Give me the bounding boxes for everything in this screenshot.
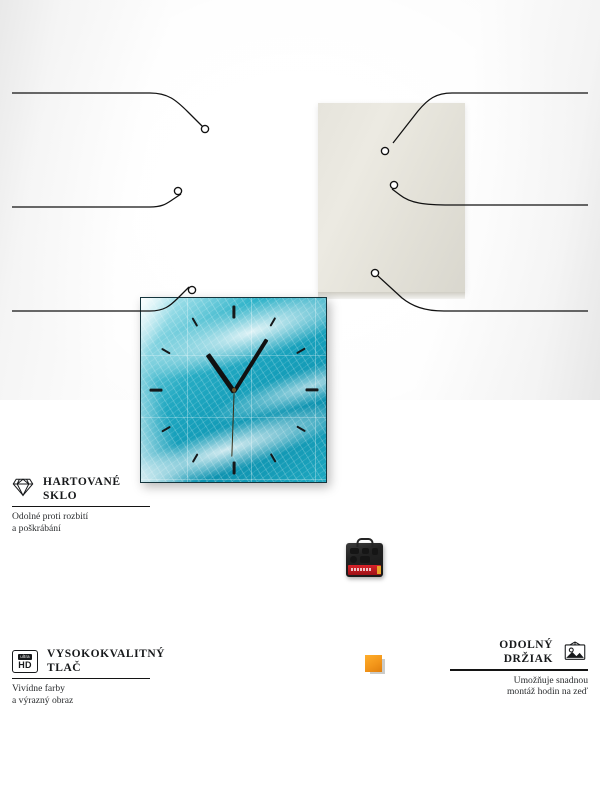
feature-sub-line2: a poškrábání (12, 523, 152, 535)
connector-mechanism (392, 189, 588, 205)
clock-movement-part (346, 543, 383, 577)
hotspot-edges[interactable] (188, 286, 195, 293)
feature-sub-line2: a výrazný obraz (12, 695, 152, 707)
ultra-hd-badge-top: ultra (18, 654, 32, 659)
movement-button-a (350, 548, 359, 554)
connector-edges (12, 287, 189, 311)
feature-title-line2: TLAČ (47, 662, 165, 676)
hotspot-foam[interactable] (371, 269, 378, 276)
hanger-hook-icon (356, 538, 373, 547)
connector-foam (378, 276, 588, 311)
foam-spacer-pad-part (365, 655, 382, 672)
feature-title-line1: VYSOKOKVALITNÝ (47, 648, 165, 662)
clock-tick (232, 462, 235, 475)
battery-terminal (377, 566, 381, 574)
movement-button-c (372, 548, 378, 555)
divider (450, 669, 588, 670)
diamond-icon (12, 477, 34, 502)
feature-title-line1: HARTOVANÉ (43, 476, 121, 490)
battery-label (351, 568, 371, 571)
infographic-canvas: HARTOVANÉ SKLO Odolné proti rozbití a po… (0, 0, 600, 400)
hotspot-hardened-glass[interactable] (201, 125, 208, 132)
hotspot-mechanism[interactable] (390, 181, 397, 188)
feature-durable-hanger[interactable]: ODOLNÝ DRŽIAK Umožňuje snadnou montáž ho… (448, 639, 588, 697)
picture-frame-icon (562, 640, 588, 666)
hotspot-hanger[interactable] (381, 147, 388, 154)
feature-sub-line1: Vivídne farby (12, 683, 152, 695)
feature-title-line2: DRŽIAK (499, 653, 553, 667)
feature-high-quality-print[interactable]: ultra HD VYSOKOKVALITNÝ TLAČ Vivídne far… (12, 648, 152, 706)
feature-title-line1: ODOLNÝ (499, 639, 553, 653)
movement-button-b (362, 548, 369, 554)
movement-button-d (360, 556, 370, 563)
feature-sub-line1: Odolné proti rozbití (12, 511, 152, 523)
divider (12, 506, 150, 507)
feature-hardened-glass[interactable]: HARTOVANÉ SKLO Odolné proti rozbití a po… (12, 476, 152, 534)
divider (12, 678, 150, 679)
connector-lines (0, 0, 600, 400)
connector-print (12, 194, 181, 207)
feature-sub-line2: montáž hodin na zeď (448, 686, 588, 698)
movement-dial (350, 556, 357, 563)
feature-sub-line1: Umožňuje snadnou (448, 675, 588, 687)
aa-battery (348, 565, 381, 575)
feature-title-line2: SKLO (43, 490, 121, 504)
connector-hanger (393, 93, 588, 143)
connector-hardened-glass (12, 93, 203, 127)
ultra-hd-badge-icon: ultra HD (12, 650, 38, 673)
hotspot-print[interactable] (174, 187, 181, 194)
ultra-hd-badge-bottom: HD (18, 661, 31, 670)
